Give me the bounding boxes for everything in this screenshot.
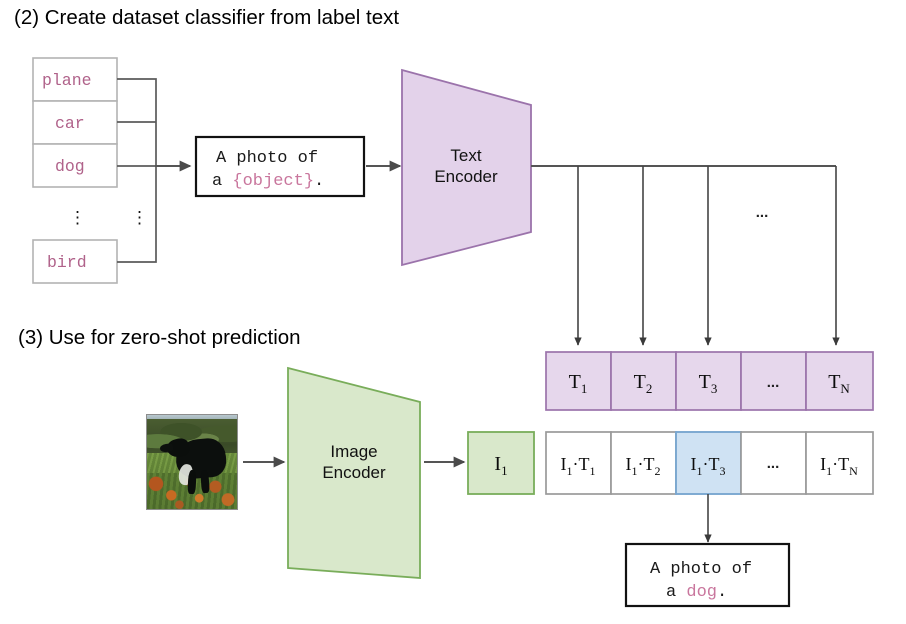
label-text-plane: plane — [42, 71, 92, 90]
prompt-line2-suffix: . — [314, 172, 324, 191]
prompt-line2-slot: {object} — [232, 172, 314, 191]
prompt-line2-prefix: a — [212, 172, 232, 191]
similarity-row: I1·T1 I1·T2 I1·T3 ... I1·TN — [546, 432, 873, 494]
label-text-bird: bird — [47, 253, 87, 272]
clip-zero-shot-diagram: (2) Create dataset classifier from label… — [0, 0, 906, 624]
text-encoder-fanout: ... — [531, 166, 836, 345]
output-line1: A photo of — [650, 560, 752, 579]
text-encoder-label-line1: Text — [450, 146, 481, 165]
label-text-dog: dog — [55, 157, 85, 176]
output-line2-suffix: . — [717, 583, 727, 602]
prompt-template-box[interactable]: A photo of a {object}. — [196, 137, 364, 196]
fanout-ellipsis: ... — [756, 204, 769, 221]
image-embedding[interactable]: I1 — [468, 432, 534, 494]
output-line2: a dog. — [666, 583, 727, 602]
prompt-line1: A photo of — [216, 149, 318, 168]
t-cell-ellipsis-label: ... — [767, 374, 780, 391]
image-encoder[interactable]: Image Encoder — [288, 368, 420, 578]
image-encoder-label-line2: Encoder — [322, 463, 386, 482]
label-bracket-connectors — [117, 79, 188, 262]
label-list-vertical-ellipsis-left: ⋮ — [69, 208, 86, 227]
output-line2-word: dog — [686, 583, 717, 602]
sim-cell-ellipsis-label: ... — [767, 455, 780, 472]
prediction-output-box[interactable]: A photo of a dog. — [626, 544, 789, 606]
prompt-line2: a {object}. — [212, 172, 324, 191]
label-list: plane car dog bird ⋮ ⋮ — [33, 58, 148, 283]
text-embedding-row: T1 T2 T3 ... TN — [546, 352, 873, 410]
label-list-vertical-ellipsis-right: ⋮ — [131, 208, 148, 227]
label-text-car: car — [55, 114, 85, 133]
step2-heading: (2) Create dataset classifier from label… — [14, 6, 399, 29]
text-encoder[interactable]: Text Encoder — [402, 70, 531, 265]
output-line2-prefix: a — [666, 583, 686, 602]
text-encoder-label-line2: Encoder — [434, 167, 498, 186]
step3-heading: (3) Use for zero-shot prediction — [18, 326, 301, 349]
image-encoder-label-line1: Image — [330, 442, 377, 461]
